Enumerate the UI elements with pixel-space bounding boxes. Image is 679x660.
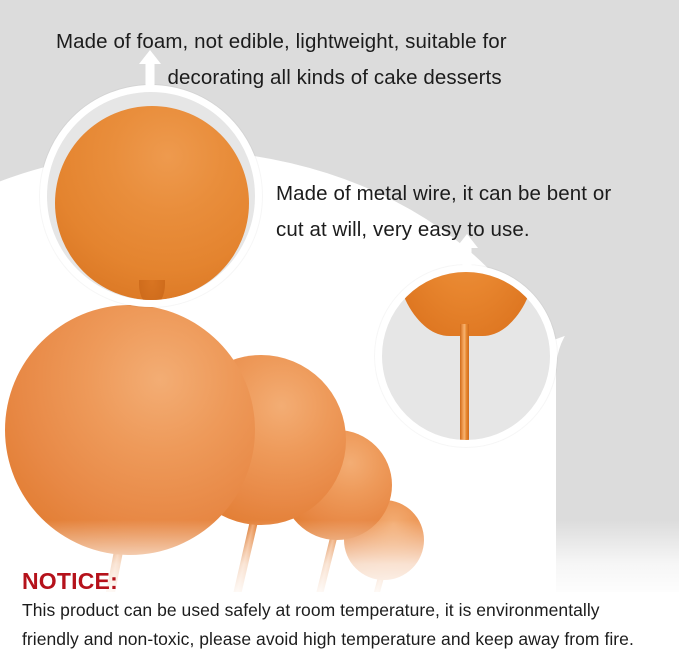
notice-block: NOTICE: This product can be used safely …: [22, 566, 667, 654]
notice-line2: friendly and non-toxic, please avoid hig…: [22, 625, 667, 654]
magnifier-metal-wire: [375, 265, 557, 447]
notice-title: NOTICE:: [22, 566, 667, 596]
infographic-canvas: Made of foam, not edible, lightweight, s…: [0, 0, 679, 660]
foam-ball-large: [5, 305, 255, 555]
magnifier-foam-ball: [40, 85, 262, 307]
arrow-shaft-wire: [463, 247, 472, 272]
magnifier-wire-content: [382, 272, 550, 440]
callout-text-foam: Made of foam, not edible, lightweight, s…: [56, 24, 507, 96]
callout-text-wire: Made of metal wire, it can be bent or cu…: [276, 176, 611, 248]
callout-wire-line2: cut at will, very easy to use.: [276, 218, 530, 241]
zoomed-foam-ball-tip: [139, 280, 165, 306]
callout-foam-line2: decorating all kinds of cake desserts: [56, 60, 507, 96]
zoomed-metal-wire: [460, 324, 469, 447]
zoomed-foam-ball: [55, 106, 249, 300]
notice-line1: This product can be used safely at room …: [22, 596, 667, 625]
callout-foam-line1: Made of foam, not edible, lightweight, s…: [56, 30, 507, 53]
notice-body: This product can be used safely at room …: [22, 596, 667, 654]
callout-wire-line1: Made of metal wire, it can be bent or: [276, 182, 611, 205]
magnifier-foam-content: [47, 92, 255, 300]
background-gray-corner: [556, 300, 679, 592]
